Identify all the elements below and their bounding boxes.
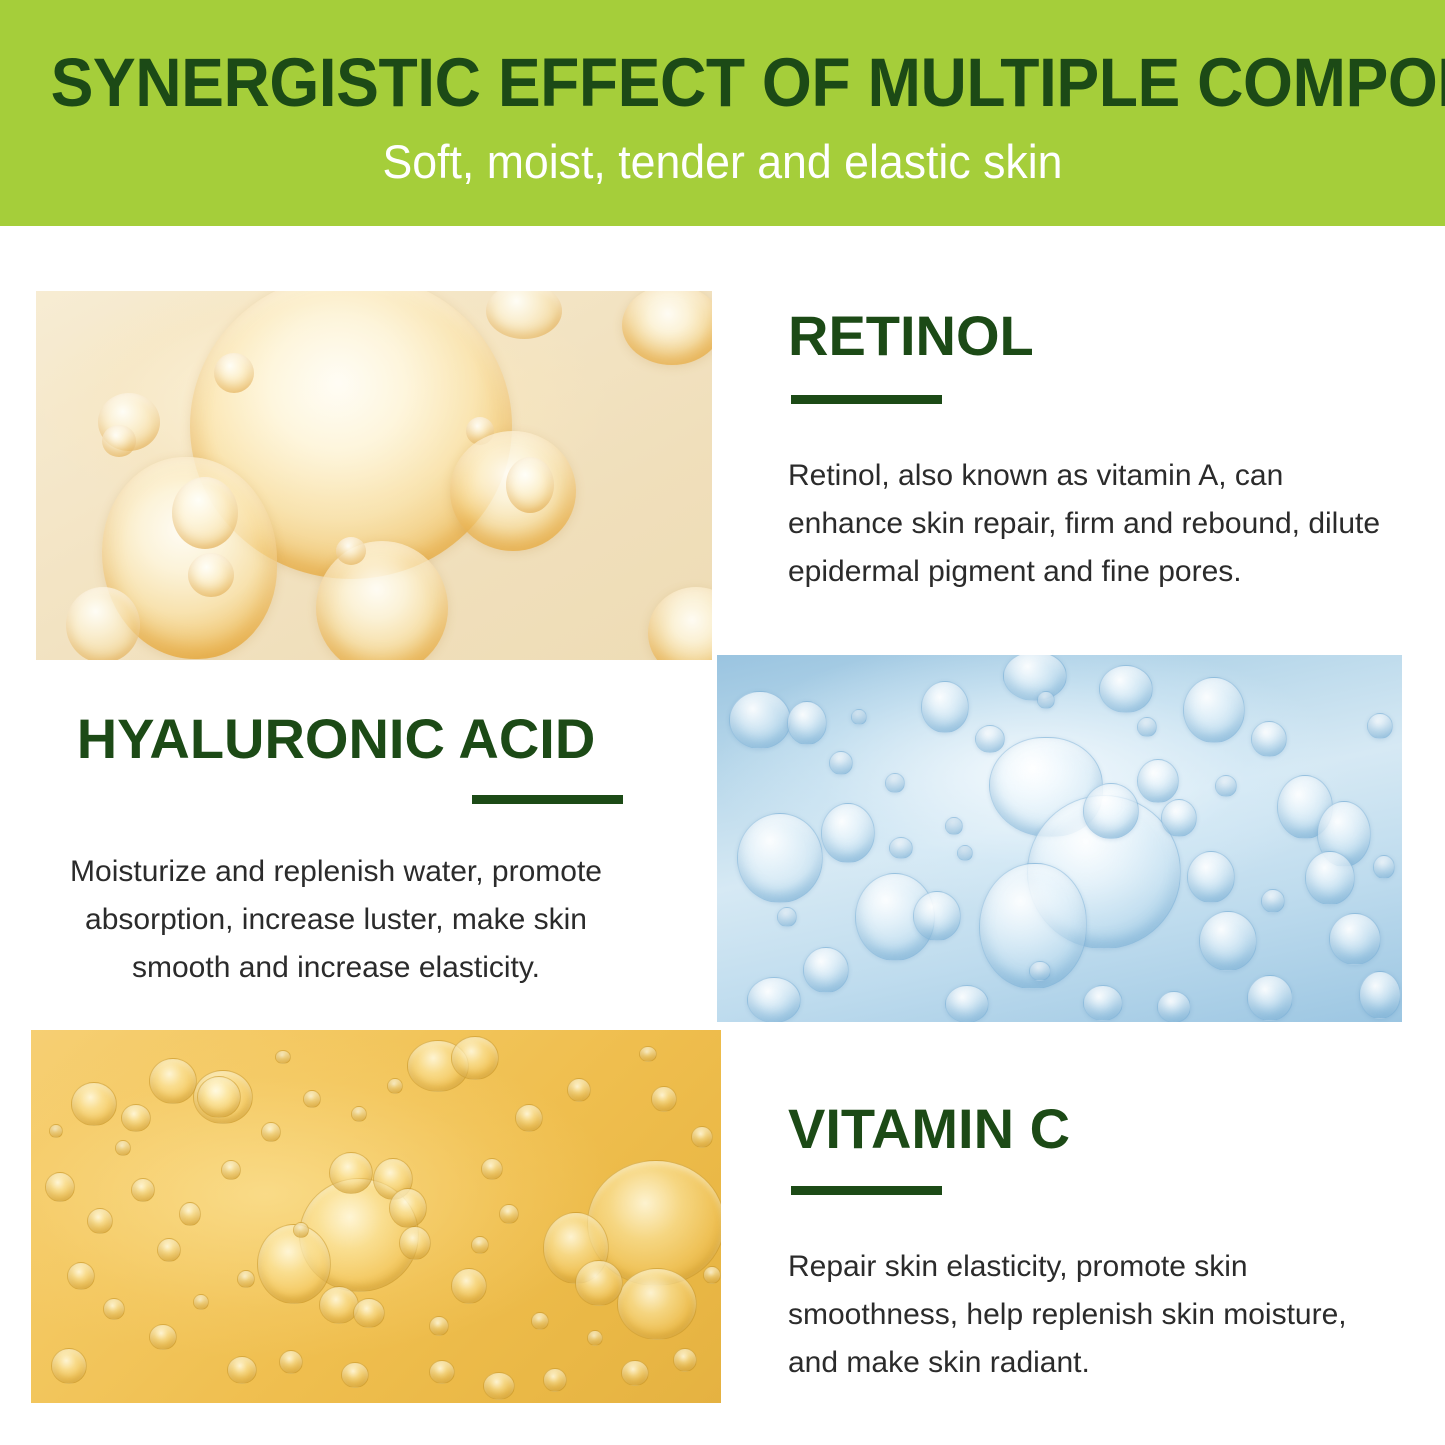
retinol-heading: RETINOL [788, 305, 1388, 367]
bubble [1367, 713, 1393, 739]
bubble [257, 1224, 331, 1304]
page-title: SYNERGISTIC EFFECT OF MULTIPLE COMPONENT… [51, 47, 1395, 119]
bubble [483, 1372, 515, 1400]
bubble [851, 709, 867, 725]
bubble [227, 1356, 257, 1384]
bubble [45, 1172, 75, 1202]
retinol-heading-rule [791, 395, 942, 404]
bubble [319, 1286, 359, 1324]
bubble [587, 1330, 603, 1346]
section-retinol-text: RETINOL Retinol, also known as vitamin A… [788, 305, 1388, 596]
bubble [499, 1204, 519, 1224]
bubble [747, 977, 801, 1022]
bubble [803, 947, 849, 993]
bubble [115, 1140, 131, 1156]
bubble [729, 691, 791, 749]
bubble [66, 587, 140, 660]
bubble [921, 681, 969, 733]
bubble [172, 477, 238, 549]
vitamin-c-image [31, 1030, 721, 1403]
bubble [1215, 775, 1237, 797]
bubble [1329, 913, 1381, 965]
bubble [703, 1266, 721, 1284]
bubble [261, 1122, 281, 1142]
bubble [885, 773, 905, 793]
bubble [1247, 975, 1293, 1021]
bubble [221, 1160, 241, 1180]
bubble [945, 817, 963, 835]
bubble [486, 291, 562, 339]
page-subtitle: Soft, moist, tender and elastic skin [36, 134, 1409, 190]
bubble [103, 1298, 125, 1320]
bubble [429, 1360, 455, 1384]
bubble [197, 1076, 241, 1118]
bubble [639, 1046, 657, 1062]
bubble [293, 1222, 309, 1238]
bubble [1083, 783, 1139, 839]
bubble [451, 1268, 487, 1304]
vitamin-c-heading: VITAMIN C [788, 1098, 1388, 1160]
bubble [353, 1298, 385, 1328]
bubble [531, 1312, 549, 1330]
bubble [621, 1360, 649, 1386]
bubble [889, 837, 913, 859]
vitamin-c-heading-rule [791, 1186, 942, 1195]
bubble [1137, 717, 1157, 737]
vitamin-c-body: Repair skin elasticity, promote skin smo… [788, 1243, 1388, 1387]
bubble [737, 813, 823, 903]
hyaluronic-acid-heading-rule [472, 795, 623, 804]
bubble [1037, 691, 1055, 709]
hyaluronic-acid-image [717, 655, 1402, 1022]
bubble [341, 1362, 369, 1388]
bubble [975, 725, 1005, 753]
bubble [429, 1316, 449, 1336]
bubble [336, 537, 366, 565]
bubble [102, 425, 136, 457]
bubble [957, 845, 973, 861]
section-vitamin-c-text: VITAMIN C Repair skin elasticity, promot… [788, 1098, 1388, 1387]
header-banner: SYNERGISTIC EFFECT OF MULTIPLE COMPONENT… [0, 0, 1445, 226]
bubble [821, 803, 875, 863]
bubble [691, 1126, 713, 1148]
bubble [1183, 677, 1245, 743]
bubble [67, 1262, 95, 1290]
bubble [121, 1104, 151, 1132]
bubble [648, 587, 712, 660]
bubble [543, 1368, 567, 1392]
bubble [1083, 985, 1123, 1021]
bubble [188, 553, 234, 597]
bubble [651, 1086, 677, 1112]
bubble [1199, 911, 1257, 971]
bubble [515, 1104, 543, 1132]
bubble [622, 291, 712, 365]
bubble [471, 1236, 489, 1254]
bubble [51, 1348, 87, 1384]
bubble [1251, 721, 1287, 757]
hyaluronic-acid-body: Moisturize and replenish water, promote … [36, 848, 636, 992]
bubble [399, 1226, 431, 1260]
bubble [481, 1158, 503, 1180]
hyaluronic-acid-heading: HYALURONIC ACID [36, 708, 636, 770]
bubble [237, 1270, 255, 1288]
bubble [329, 1152, 373, 1194]
bubble [1187, 851, 1235, 903]
bubble [303, 1090, 321, 1108]
bubble [179, 1202, 201, 1226]
bubble [193, 1294, 209, 1310]
bubble [1161, 799, 1197, 837]
bubble [1373, 855, 1395, 879]
bubble [49, 1124, 63, 1138]
bubble [1261, 889, 1285, 913]
bubble [829, 751, 853, 775]
bubble [279, 1350, 303, 1374]
bubble [149, 1324, 177, 1350]
bubble [575, 1260, 623, 1306]
bubble [1157, 991, 1191, 1022]
bubble [506, 457, 554, 513]
bubble [451, 1036, 499, 1080]
bubble [567, 1078, 591, 1102]
bubble [1137, 759, 1179, 803]
bubble [945, 985, 989, 1022]
bubble [913, 891, 961, 941]
bubble [157, 1238, 181, 1262]
bubble [777, 907, 797, 927]
bubble [275, 1050, 291, 1064]
bubble [389, 1188, 427, 1228]
bubble [149, 1058, 197, 1104]
bubble [387, 1078, 403, 1094]
bubble [87, 1208, 113, 1234]
bubble [71, 1082, 117, 1126]
bubble [1029, 961, 1051, 981]
section-hyaluronic-acid-text: HYALURONIC ACID Moisturize and replenish… [36, 708, 636, 992]
retinol-image [36, 291, 712, 660]
bubble [787, 701, 827, 745]
bubble [617, 1268, 697, 1340]
bubble [1003, 655, 1067, 701]
bubble [351, 1106, 367, 1122]
bubble [1305, 851, 1355, 905]
bubble [1099, 665, 1153, 713]
bubble [1359, 971, 1401, 1019]
bubble [673, 1348, 697, 1372]
bubble [214, 353, 254, 393]
bubble [131, 1178, 155, 1202]
retinol-body: Retinol, also known as vitamin A, can en… [788, 452, 1388, 596]
